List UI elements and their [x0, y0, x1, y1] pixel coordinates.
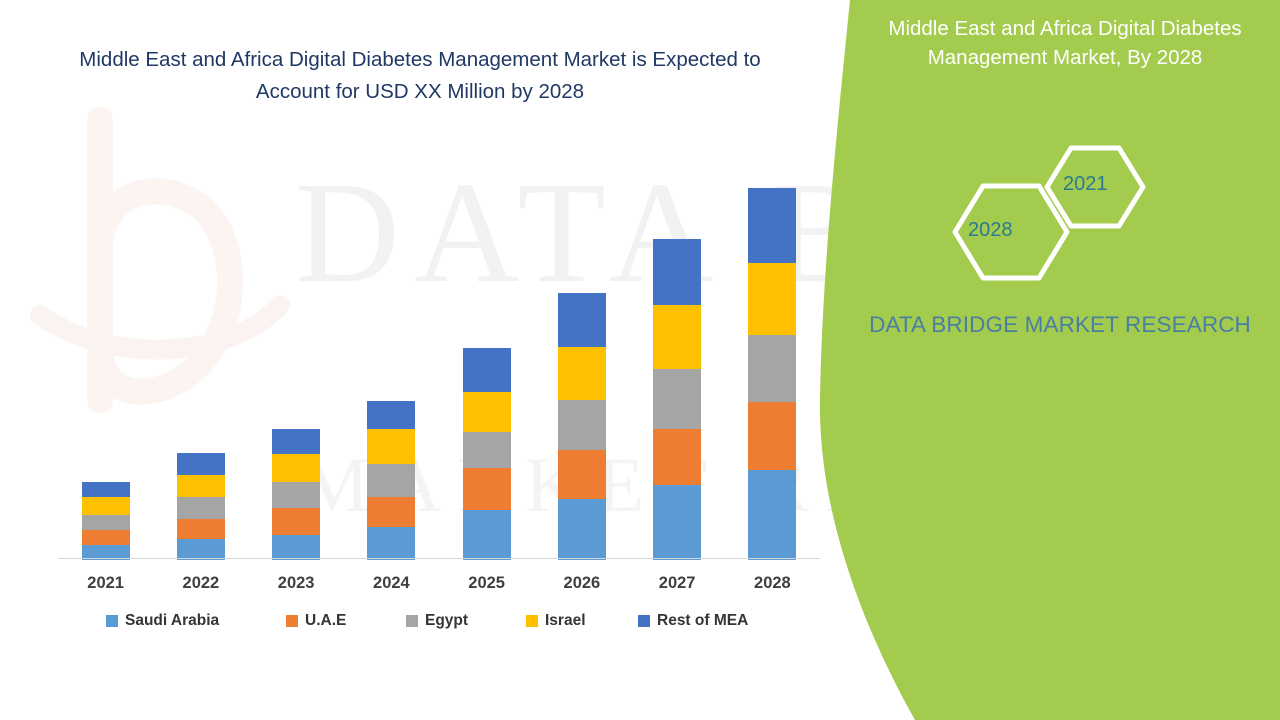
bar-segment-egypt — [177, 497, 225, 519]
bar-segment-egypt — [82, 515, 130, 530]
bar-segment-u-a-e — [82, 530, 130, 545]
legend-swatch-icon — [526, 615, 538, 627]
bar-segment-saudi-arabia — [653, 485, 701, 560]
legend-item-saudi-arabia[interactable]: Saudi Arabia — [106, 612, 219, 630]
bar-segment-israel — [177, 475, 225, 497]
x-axis-label-2021: 2021 — [58, 574, 154, 593]
legend-swatch-icon — [106, 615, 118, 627]
legend-label: Saudi Arabia — [125, 612, 219, 630]
bar-2022 — [177, 453, 225, 560]
bar-segment-u-a-e — [367, 497, 415, 527]
brand-name: DATA BRIDGE MARKET RESEARCH — [860, 310, 1260, 340]
bar-segment-israel — [748, 263, 796, 335]
hexagon-label-start: 2021 — [1063, 173, 1108, 196]
x-axis-label-2028: 2028 — [724, 574, 820, 593]
x-axis-label-2022: 2022 — [153, 574, 249, 593]
bar-segment-rest-of-mea — [748, 188, 796, 263]
bar-segment-israel — [367, 429, 415, 464]
bar-segment-saudi-arabia — [177, 539, 225, 560]
bar-chart-plot — [58, 160, 820, 560]
bar-2024 — [367, 401, 415, 560]
bar-segment-rest-of-mea — [463, 348, 511, 392]
bar-segment-u-a-e — [653, 429, 701, 485]
bar-segment-saudi-arabia — [367, 527, 415, 560]
chart-legend: Saudi ArabiaU.A.EEgyptIsraelRest of MEA — [58, 612, 820, 642]
bar-segment-u-a-e — [558, 450, 606, 499]
bar-2023 — [272, 429, 320, 560]
bar-segment-rest-of-mea — [653, 239, 701, 305]
legend-swatch-icon — [638, 615, 650, 627]
legend-swatch-icon — [406, 615, 418, 627]
bar-segment-israel — [82, 497, 130, 515]
legend-item-rest-of-mea[interactable]: Rest of MEA — [638, 612, 748, 630]
bar-segment-egypt — [272, 482, 320, 508]
bar-2021 — [82, 482, 130, 560]
bar-segment-israel — [463, 392, 511, 432]
bar-segment-egypt — [558, 400, 606, 450]
legend-label: Egypt — [425, 612, 468, 630]
page-title: Middle East and Africa Digital Diabetes … — [40, 44, 800, 108]
bar-segment-saudi-arabia — [558, 499, 606, 560]
bar-segment-rest-of-mea — [82, 482, 130, 497]
bar-segment-u-a-e — [748, 402, 796, 470]
x-axis-label-2025: 2025 — [439, 574, 535, 593]
bar-segment-u-a-e — [272, 508, 320, 535]
bar-segment-israel — [653, 305, 701, 369]
x-axis-label-2023: 2023 — [248, 574, 344, 593]
x-axis-label-2026: 2026 — [534, 574, 630, 593]
x-axis-line — [58, 558, 820, 559]
x-axis-label-2027: 2027 — [629, 574, 725, 593]
panel-content: Middle East and Africa Digital Diabetes … — [840, 0, 1280, 720]
chart-block: Middle East and Africa Digital Diabetes … — [0, 0, 860, 720]
bar-segment-israel — [272, 454, 320, 482]
legend-item-egypt[interactable]: Egypt — [406, 612, 468, 630]
bar-segment-egypt — [748, 335, 796, 402]
hexagon-label-end: 2028 — [968, 219, 1013, 242]
bar-segment-rest-of-mea — [177, 453, 225, 475]
bar-segment-egypt — [367, 464, 415, 497]
legend-label: Israel — [545, 612, 586, 630]
bar-segment-u-a-e — [463, 468, 511, 510]
bar-2025 — [463, 348, 511, 560]
bar-segment-saudi-arabia — [463, 510, 511, 560]
panel-heading: Middle East and Africa Digital Diabetes … — [850, 14, 1280, 72]
x-axis-label-2024: 2024 — [343, 574, 439, 593]
legend-item-u-a-e[interactable]: U.A.E — [286, 612, 346, 630]
bar-segment-rest-of-mea — [558, 293, 606, 347]
bar-segment-rest-of-mea — [272, 429, 320, 454]
bar-2028 — [748, 188, 796, 560]
bar-2027 — [653, 239, 701, 560]
bar-segment-u-a-e — [177, 519, 225, 539]
bar-segment-israel — [558, 347, 606, 400]
legend-item-israel[interactable]: Israel — [526, 612, 586, 630]
legend-label: U.A.E — [305, 612, 346, 630]
bar-segment-saudi-arabia — [272, 535, 320, 560]
hexagon-group: 2028 2021 — [935, 140, 1195, 295]
legend-swatch-icon — [286, 615, 298, 627]
bar-segment-egypt — [463, 432, 511, 468]
x-axis-labels: 20212022202320242025202620272028 — [58, 568, 820, 596]
bar-segment-egypt — [653, 369, 701, 429]
bar-segment-rest-of-mea — [367, 401, 415, 429]
legend-label: Rest of MEA — [657, 612, 748, 630]
bar-segment-saudi-arabia — [748, 470, 796, 560]
bar-2026 — [558, 293, 606, 560]
